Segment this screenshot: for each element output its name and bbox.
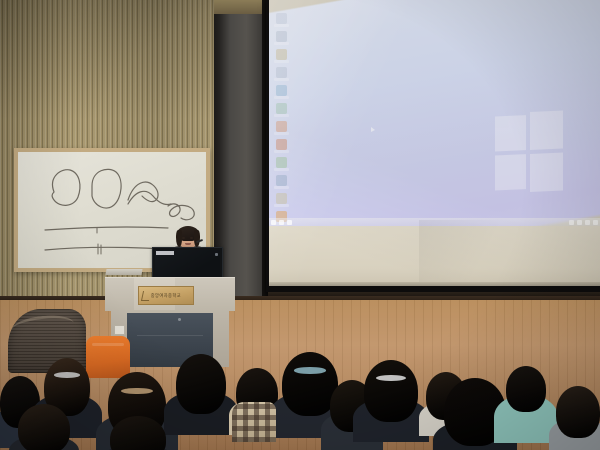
presentation-icon[interactable] <box>276 139 287 150</box>
audience-head-8 <box>364 360 418 422</box>
lecture-hall-photo: 중앙여자중학교 <box>0 0 600 450</box>
keyboard[interactable] <box>105 269 142 275</box>
presenter-eye-left <box>182 237 185 239</box>
desktop-icon-label <box>274 24 289 27</box>
mouse-pointer-icon <box>371 127 375 132</box>
ime-tray-icon[interactable] <box>585 220 590 225</box>
search-icon[interactable] <box>279 220 284 225</box>
desktop-icon-label <box>274 204 289 207</box>
documents-folder-icon[interactable] <box>276 49 287 60</box>
taskbar-tray-icons[interactable] <box>569 220 598 225</box>
desktop-icon-label <box>274 168 289 171</box>
audience-head-8-hair-accessory <box>376 375 406 381</box>
desktop-icon-label <box>274 132 289 135</box>
desktop-icon-label <box>274 60 289 63</box>
clock-tray-icon[interactable] <box>593 220 598 225</box>
plaid-scarf <box>232 402 276 442</box>
desktop-icon-label <box>274 96 289 99</box>
wave-curve-sketch-2 <box>128 191 171 204</box>
monitor-power-led <box>215 253 218 256</box>
security-shield-icon[interactable] <box>276 175 287 186</box>
audience-head-11 <box>506 366 546 412</box>
desktop-icon-label <box>274 186 289 189</box>
projection-screen[interactable] <box>269 0 600 286</box>
desktop-icon-label <box>274 150 289 153</box>
recycle-bin-icon[interactable] <box>276 13 287 24</box>
volume-tray-icon[interactable] <box>577 220 582 225</box>
oval-sketch-left <box>52 170 80 206</box>
browser-icon[interactable] <box>276 85 287 96</box>
audience-head-12 <box>556 386 600 438</box>
audience-head-4 <box>176 354 226 414</box>
desktop-icon-column[interactable] <box>272 13 290 247</box>
desktop-monitor[interactable] <box>152 247 223 281</box>
media-player-icon[interactable] <box>276 103 287 114</box>
monitor-window-bar <box>156 251 174 255</box>
presenter-hair-left <box>176 230 182 247</box>
explorer-icon[interactable] <box>287 220 292 225</box>
projected-desktop[interactable] <box>269 11 600 227</box>
presenter-eye-right <box>190 237 193 239</box>
notes-icon[interactable] <box>276 193 287 204</box>
desktop-icon-label <box>274 42 289 45</box>
screen-fabric-lower <box>269 226 600 286</box>
school-emblem-icon <box>141 291 151 301</box>
presenter-hair-right <box>194 230 200 247</box>
audience-head-6-hair-accessory <box>294 367 325 373</box>
podium-nameplate-label: 중앙여자중학교 <box>151 292 181 298</box>
desktop-icon-label <box>274 78 289 81</box>
oval-sketch-right <box>92 169 121 208</box>
network-icon[interactable] <box>276 67 287 78</box>
start-icon[interactable] <box>271 220 276 225</box>
editor-icon[interactable] <box>276 121 287 132</box>
podium-nameplate: 중앙여자중학교 <box>138 286 194 305</box>
loop-curve-sketch <box>168 204 194 220</box>
network-tray-icon[interactable] <box>569 220 574 225</box>
spreadsheet-icon[interactable] <box>276 157 287 168</box>
windows-logo-watermark <box>495 114 563 193</box>
desktop-icon-label <box>274 114 289 117</box>
taskbar-pinned-icons[interactable] <box>271 220 292 225</box>
podium-knob[interactable] <box>178 318 181 321</box>
this-pc-icon[interactable] <box>276 31 287 42</box>
horizontal-line-lower <box>45 247 166 250</box>
audience-head-2-hair-accessory <box>54 372 80 378</box>
audience <box>0 330 600 450</box>
horizontal-line-upper <box>45 227 168 230</box>
audience-head-13 <box>18 404 70 450</box>
column-lintel <box>214 0 268 14</box>
